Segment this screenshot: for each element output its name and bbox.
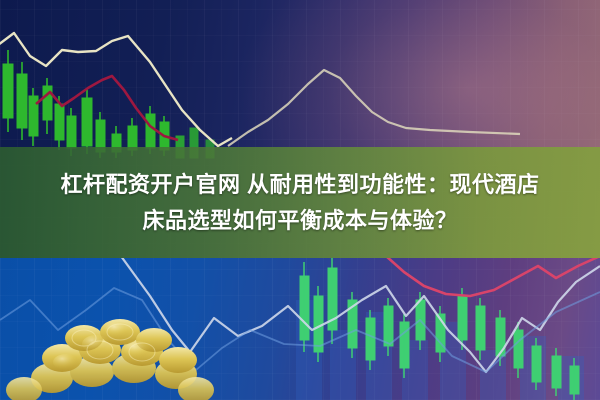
top-candlestick-series	[3, 50, 214, 158]
gold-coins-pile	[6, 319, 214, 400]
top-cream-trend-line-right	[228, 70, 520, 146]
headline-line-1: 杠杆配资开户官网 从耐用性到功能性：现代酒店	[60, 168, 539, 202]
headline-line-2: 床品选型如何平衡成本与体验？	[142, 204, 457, 238]
top-chart-group	[0, 33, 520, 158]
article-banner: 杠杆配资开户官网 从耐用性到功能性：现代酒店 床品选型如何平衡成本与体验？	[0, 0, 600, 400]
headline-text-block: 杠杆配资开户官网 从耐用性到功能性：现代酒店 床品选型如何平衡成本与体验？	[0, 147, 600, 258]
